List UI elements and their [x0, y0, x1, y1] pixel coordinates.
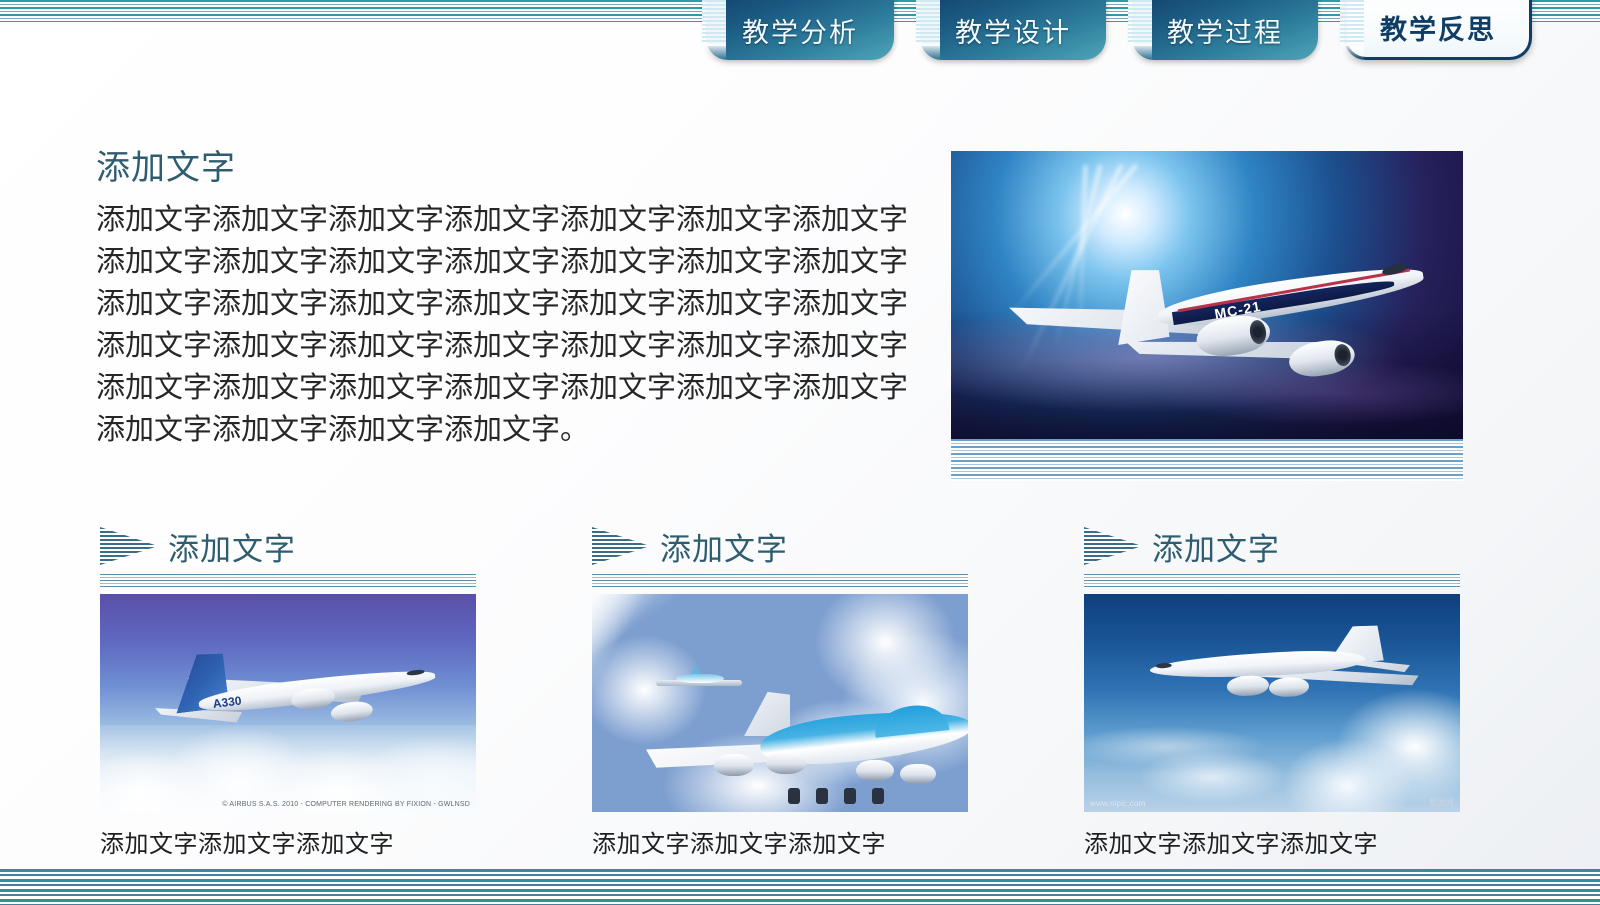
tab-teaching-design[interactable]: 教学设计	[920, 0, 1106, 60]
tab-teaching-process[interactable]: 教学过程	[1132, 0, 1318, 60]
image-credit: www.nipic.com	[1090, 799, 1146, 808]
bottom-stripe-pattern	[0, 869, 1600, 905]
tab-label: 教学分析	[742, 11, 858, 50]
card-caption: 添加文字添加文字添加文字	[100, 824, 476, 859]
body-paragraph: 添加文字添加文字添加文字添加文字添加文字添加文字添加文字添加文字添加文字添加文字…	[96, 199, 908, 451]
aircraft-tailfin	[1097, 266, 1170, 347]
landing-gear	[872, 788, 884, 804]
landing-gear	[844, 788, 856, 804]
tab-teaching-analysis[interactable]: 教学分析	[706, 0, 894, 60]
aircraft-engine	[766, 752, 806, 774]
aircraft-engine	[714, 754, 754, 776]
image-credit: © AIRBUS S.A.S. 2010 - COMPUTER RENDERIN…	[222, 801, 470, 808]
aircraft-engine	[1269, 677, 1310, 698]
card-caption: 添加文字添加文字添加文字	[592, 824, 968, 859]
arrow-right-icon	[100, 527, 158, 565]
card-3: 添加文字 www.nipic.com 昵图网 添加文字添加文字添加文字	[1084, 520, 1460, 859]
card-header: 添加文字	[592, 520, 968, 572]
engine-intake	[1333, 343, 1352, 367]
card-stripe-rule	[1084, 574, 1460, 588]
aircraft-747	[638, 690, 958, 808]
aircraft-engine	[1226, 675, 1269, 697]
arrow-right-icon	[1084, 527, 1142, 565]
card-1: 添加文字 A330 © AIRBUS S.A.S. 2010 - COMPUTE…	[100, 520, 476, 859]
card-title: 添加文字	[168, 524, 296, 569]
card-header: 添加文字	[100, 520, 476, 572]
section-title: 添加文字	[96, 140, 236, 189]
card-title: 添加文字	[660, 524, 788, 569]
engine-intake	[1248, 319, 1268, 346]
card-image-747	[592, 594, 968, 812]
hero-image-mc21: MC-21	[951, 151, 1463, 439]
tab-label: 教学反思	[1380, 8, 1496, 47]
card-2: 添加文字	[592, 520, 968, 859]
slide: 教学分析 教学设计 教学过程 教学反思 添加文字 添加文字添加文字添加文字添加文…	[0, 0, 1600, 905]
card-header: 添加文字	[1084, 520, 1460, 572]
card-stripe-rule	[592, 574, 968, 588]
card-image-a320: www.nipic.com 昵图网	[1084, 594, 1460, 812]
image-credit-right: 昵图网	[1429, 797, 1454, 808]
aircraft-engine	[330, 700, 374, 724]
aircraft-engine	[900, 764, 936, 784]
aircraft-narrowbody	[1140, 623, 1424, 714]
aircraft-fuselage	[676, 674, 724, 683]
card-stripe-rule	[100, 574, 476, 588]
bottom-stripe-rail	[0, 865, 1600, 905]
tab-label: 教学设计	[955, 11, 1071, 50]
aircraft-distant	[656, 666, 742, 692]
card-image-a330: A330 © AIRBUS S.A.S. 2010 - COMPUTER REN…	[100, 594, 476, 812]
landing-gear	[788, 788, 800, 804]
tab-teaching-reflection[interactable]: 教学反思	[1344, 0, 1532, 60]
arrow-right-icon	[592, 527, 650, 565]
landing-gear	[816, 788, 828, 804]
aircraft-engine	[856, 760, 894, 781]
card-title: 添加文字	[1152, 524, 1280, 569]
watermark-text: https://ppt.pkll.de	[1361, 881, 1592, 905]
tab-bar: 教学分析 教学设计 教学过程 教学反思	[0, 0, 1600, 62]
tab-label: 教学过程	[1167, 11, 1283, 50]
hero-stripe-bar	[951, 439, 1463, 481]
card-caption: 添加文字添加文字添加文字	[1084, 824, 1460, 859]
